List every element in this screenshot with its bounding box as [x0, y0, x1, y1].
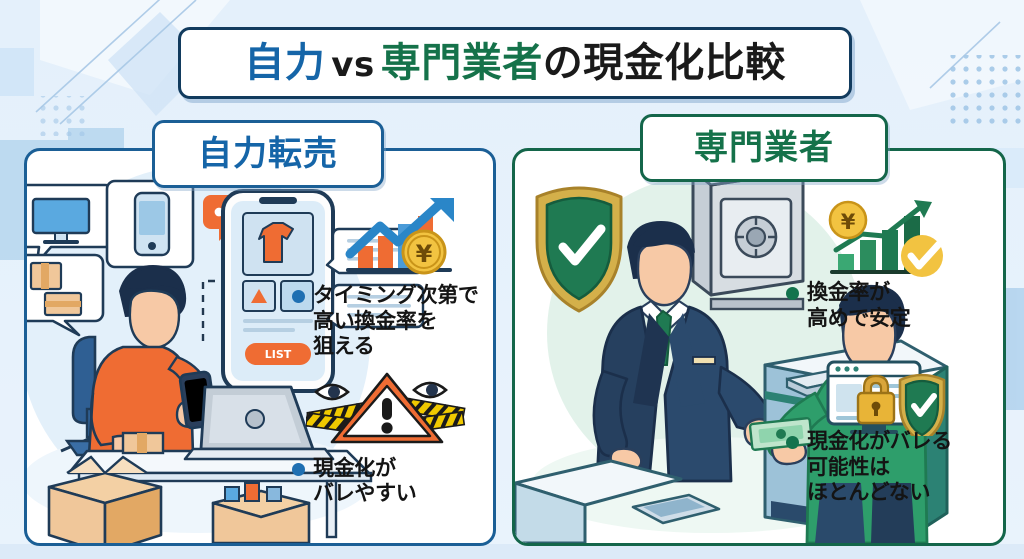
title-part-pro: 専門業者: [381, 40, 543, 86]
page-title-box: 自力vs専門業者の現金化比較: [178, 27, 852, 99]
title-part-rest: の現金化比較: [543, 40, 786, 86]
list-button-label: LIST: [265, 348, 292, 361]
bullet-dot-icon: [292, 463, 305, 476]
left-bullet-list: タイミング次第で 高い換金率を 狙える 現金化が バレやすい: [292, 283, 482, 507]
left-bullet-1-text: タイミング次第で 高い換金率を 狙える: [313, 283, 479, 360]
panel-header-professional-service: 専門業者: [640, 114, 888, 182]
bullet-dot-icon: [786, 287, 799, 300]
svg-text:¥: ¥: [416, 240, 433, 268]
right-bullet-2-text: 現金化がバレる 可能性は ほとんどない: [807, 429, 952, 506]
title-part-vs: vs: [325, 45, 380, 85]
title-part-self: 自力: [244, 40, 325, 86]
bullet-dot-icon: [292, 290, 305, 303]
panel-header-self-resale-label: 自力転売: [198, 137, 338, 171]
growth-chart-yen-coin-icon: ¥: [336, 196, 476, 286]
panel-header-self-resale: 自力転売: [152, 120, 384, 188]
list-item: タイミング次第で 高い換金率を 狙える: [292, 283, 482, 360]
right-bullet-list: 換金率が 高めで安定 現金化がバレる 可能性は ほとんどない: [786, 280, 996, 506]
list-item: 現金化が バレやすい: [292, 456, 482, 507]
list-item: 換金率が 高めで安定: [786, 280, 996, 331]
panel-header-professional-service-label: 専門業者: [694, 131, 834, 165]
list-item: 現金化がバレる 可能性は ほとんどない: [786, 429, 996, 506]
green-bar-chart-yen-coin-check-icon: ¥: [818, 198, 950, 288]
bullet-dot-icon: [786, 436, 799, 449]
small-parcel-icon: [123, 433, 163, 453]
right-bullet-1-text: 換金率が 高めで安定: [807, 280, 911, 331]
page-title: 自力vs専門業者の現金化比較: [244, 43, 785, 83]
svg-text:¥: ¥: [841, 210, 856, 234]
infographic-canvas: 自力vs専門業者の現金化比較: [0, 0, 1024, 559]
left-bullet-2-text: 現金化が バレやすい: [313, 456, 417, 507]
